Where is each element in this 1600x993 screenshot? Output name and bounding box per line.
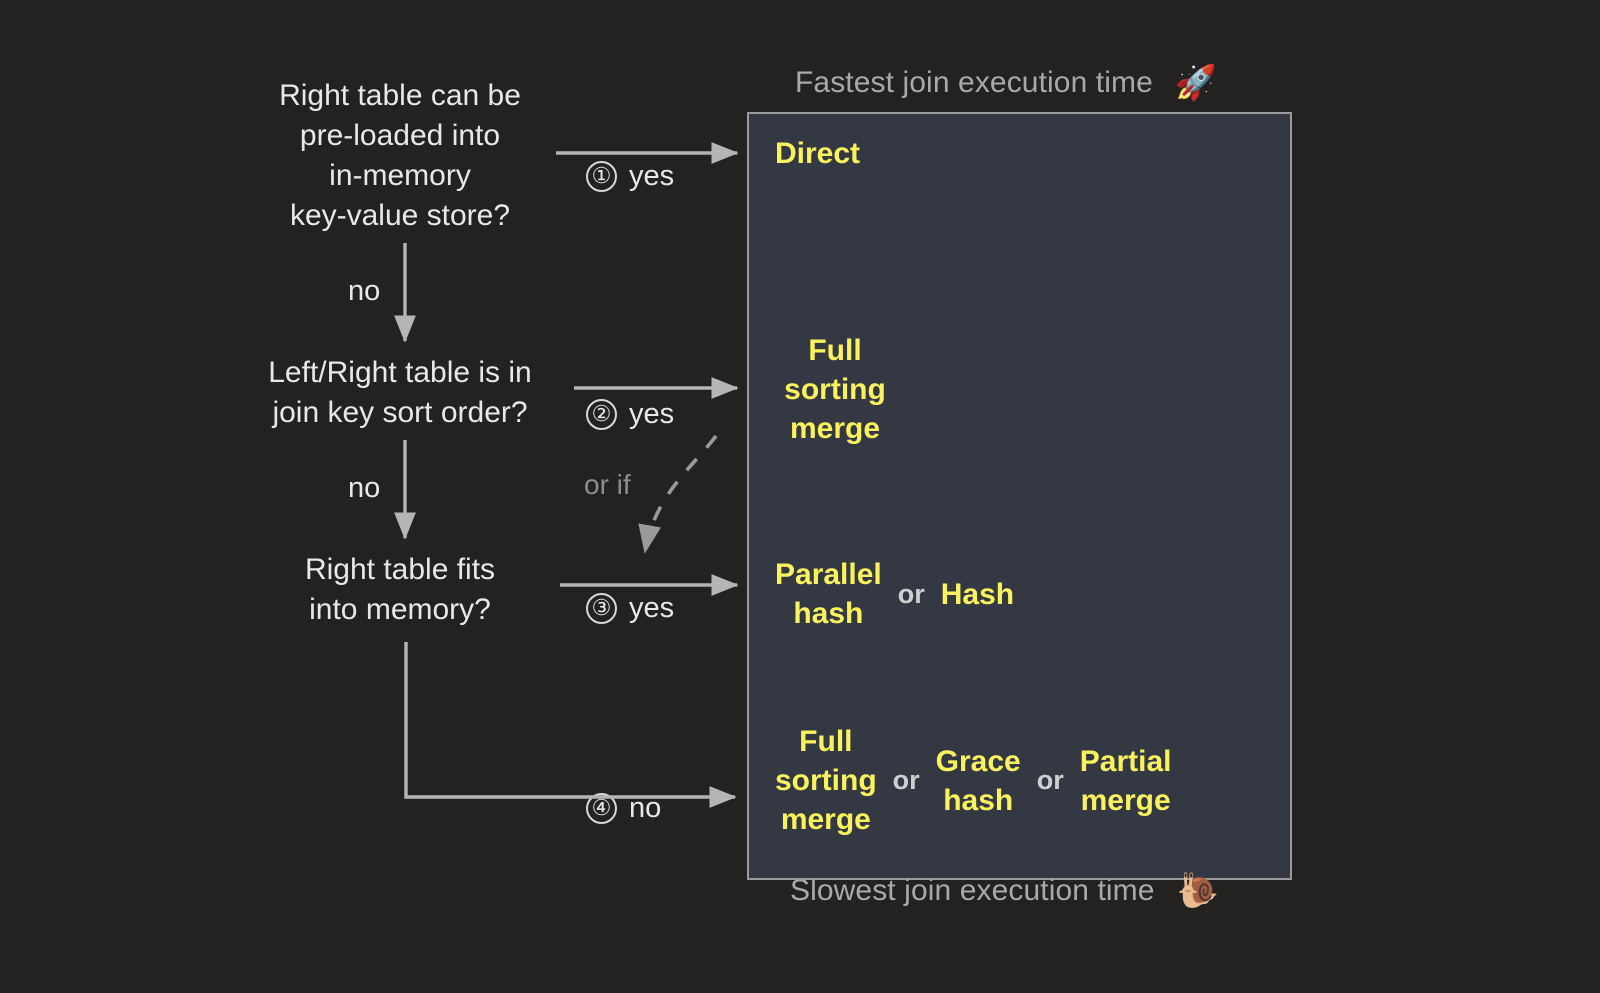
algorithm-full-sorting-merge-slow: Full sorting merge <box>775 722 877 839</box>
diagram-canvas: Fastest join execution time 🚀 Direct Ful… <box>0 0 1600 993</box>
algorithm-full-sorting-merge: Full sorting merge <box>784 331 886 448</box>
separator-or: or <box>877 765 936 796</box>
rocket-emoji: 🚀 <box>1175 66 1217 100</box>
fastest-execution-label: Fastest join execution time <box>795 66 1153 100</box>
fastest-execution-caption: Fastest join execution time 🚀 <box>795 66 1217 100</box>
branch-answer-2: yes <box>629 398 674 431</box>
algorithm-hash: Hash <box>941 575 1014 614</box>
question-sort-order: Left/Right table is in join key sort ord… <box>196 353 604 433</box>
snail-emoji: 🐌 <box>1177 874 1219 908</box>
panel-row-full-sorting-merge: Full sorting merge <box>775 331 895 448</box>
edge-label-no-2: no <box>348 472 380 505</box>
separator-or: or <box>882 579 941 610</box>
separator-or: or <box>1021 765 1080 796</box>
branch-label-3: ③ yes <box>586 592 674 625</box>
circled-number-4: ④ <box>586 793 617 824</box>
panel-row-hash: Parallel hash or Hash <box>775 555 1014 633</box>
algorithm-parallel-hash: Parallel hash <box>775 555 882 633</box>
panel-row-direct: Direct <box>775 134 860 173</box>
circled-number-3: ③ <box>586 593 617 624</box>
algorithm-partial-merge: Partial merge <box>1080 742 1172 820</box>
algorithm-grace-hash: Grace hash <box>936 742 1021 820</box>
branch-label-4: ④ no <box>586 792 661 825</box>
connector-no-4 <box>406 642 735 797</box>
question-preload-key-value-store: Right table can be pre-loaded into in-me… <box>196 76 604 236</box>
edge-label-no-1: no <box>348 275 380 308</box>
panel-row-slowest: Full sorting merge or Grace hash or Part… <box>775 722 1171 839</box>
circled-number-2: ② <box>586 399 617 430</box>
edge-label-or-if: or if <box>584 469 631 501</box>
question-fits-into-memory: Right table fits into memory? <box>196 550 604 630</box>
branch-answer-3: yes <box>629 592 674 625</box>
branch-label-2: ② yes <box>586 398 674 431</box>
branch-answer-4: no <box>629 792 661 825</box>
slowest-execution-caption: Slowest join execution time 🐌 <box>790 874 1219 908</box>
connector-or-if-dashed <box>645 436 716 552</box>
branch-label-1: ① yes <box>586 160 674 193</box>
slowest-execution-label: Slowest join execution time <box>790 874 1155 908</box>
branch-answer-1: yes <box>629 160 674 193</box>
circled-number-1: ① <box>586 161 617 192</box>
algorithm-direct: Direct <box>775 134 860 173</box>
